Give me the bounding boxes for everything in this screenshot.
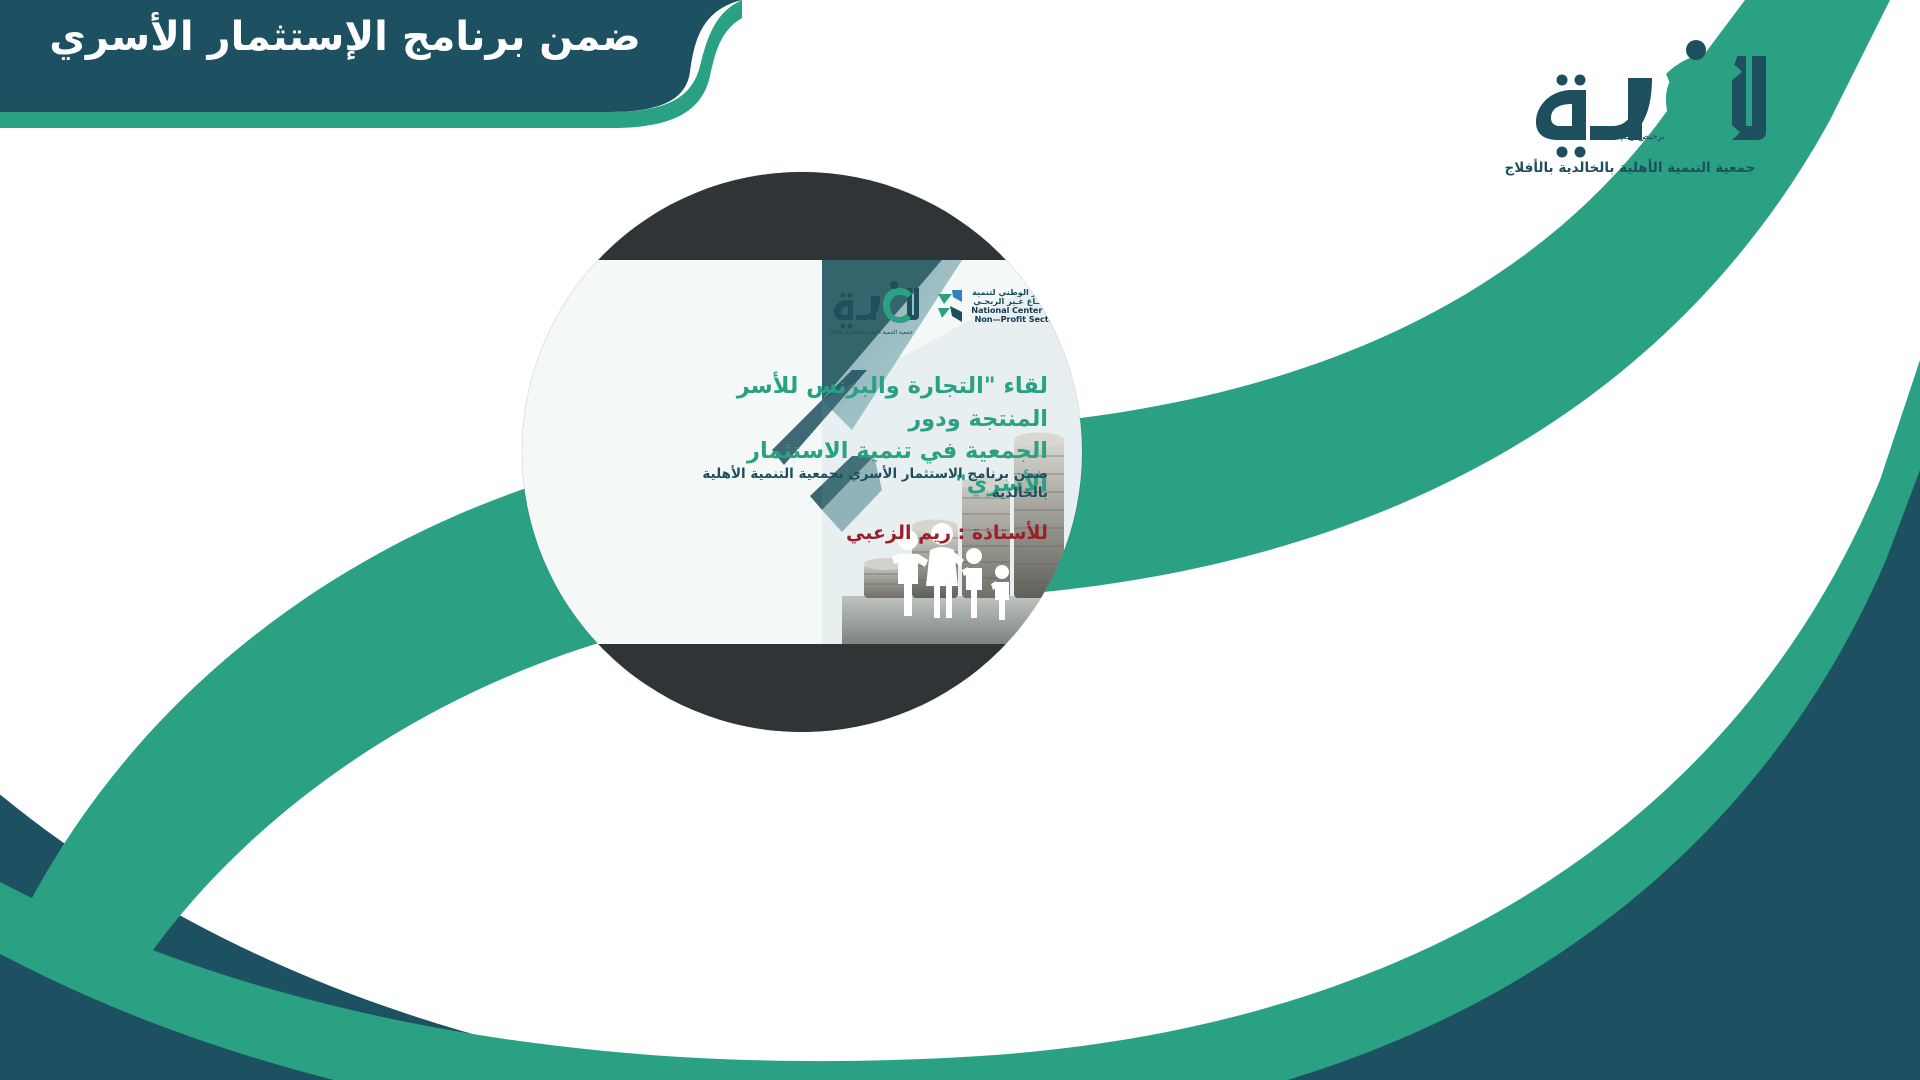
- poster-logo-row: المركز الوطني لتنمية القطـاع غـير الربحـ…: [814, 278, 1058, 334]
- khaldiah-logo-icon: ترخيص رقم 4192: [1470, 28, 1790, 158]
- page-title: ضمن برنامج الإستثمار الأسري: [0, 14, 690, 60]
- brand-license-text: ترخيص رقم 4192: [1595, 132, 1665, 142]
- brand-subtitle: جمعية التنمية الأهلية بالخالدية بالأفلاج: [1470, 160, 1790, 176]
- slide-canvas: ضمن برنامج الإستثمار الأسري: [0, 0, 1920, 1080]
- khaldiah-logo-icon: جمعية التنمية الأهلية بالخالدية بالأفلاج: [814, 278, 926, 334]
- event-poster-image: المركز الوطني لتنمية القطـاع غـير الربحـ…: [522, 172, 1082, 732]
- poster-letterbox-top: [522, 172, 1082, 260]
- poster-content: المركز الوطني لتنمية القطـاع غـير الربحـ…: [522, 260, 1082, 644]
- poster-speaker-name: للأستاذة : ريم الزعبي: [708, 522, 1048, 544]
- ncnp-english-line-2: Non—Profit Sector: [971, 315, 1058, 324]
- ncnp-logo: المركز الوطني لتنمية القطـاع غـير الربحـ…: [936, 288, 1058, 325]
- poster-letterbox-bottom: [522, 644, 1082, 732]
- poster-khaldiah-subtitle: جمعية التنمية الأهلية بالخالدية بالأفلاج: [814, 330, 926, 336]
- poster-subtitle: ضمن برنامج الاستثمار الأسري بجمعية التنم…: [668, 465, 1048, 503]
- ncnp-arrow-icon: [936, 288, 966, 324]
- poster-title-line-1: لقاء "التجارة والبزنس للأسر المنتجة ودور: [678, 370, 1048, 435]
- brand-logo-block: ترخيص رقم 4192 جمعية التنمية الأهلية بال…: [1470, 28, 1790, 176]
